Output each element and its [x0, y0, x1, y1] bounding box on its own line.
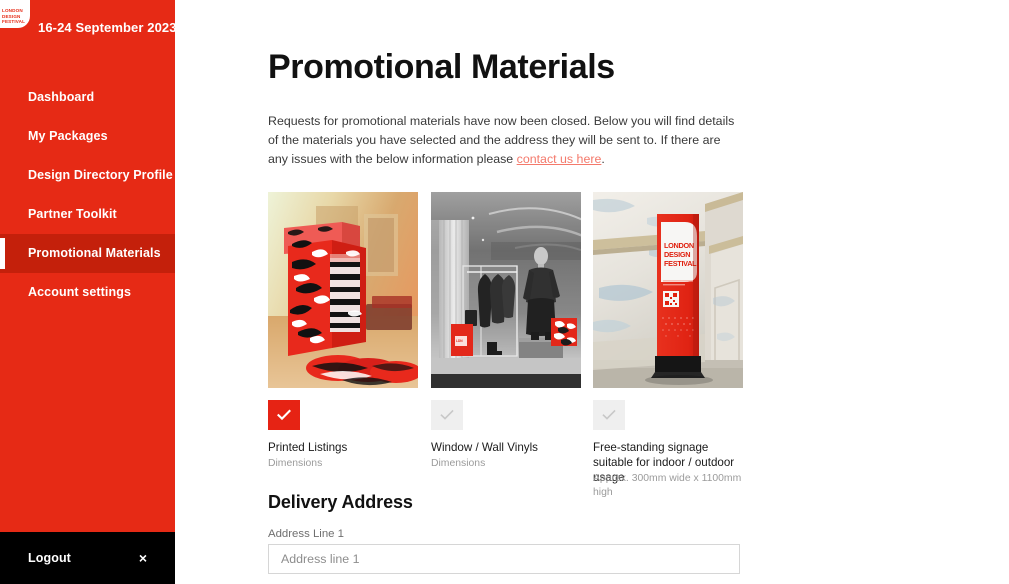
sidebar-item-account-settings[interactable]: Account settings: [0, 273, 175, 312]
london-design-festival-logo[interactable]: LONDON DESIGN FESTIVAL: [0, 0, 30, 28]
material-checkbox-free-standing-signage[interactable]: [593, 400, 625, 430]
material-card: LONDON DESIGN FESTIVAL: [593, 192, 743, 388]
delivery-address-heading: Delivery Address: [268, 492, 413, 513]
promotional-materials-page: LONDON DESIGN FESTIVAL 16-24 September 2…: [0, 0, 1009, 584]
shop-window-vinyl-photo: LDN: [431, 192, 581, 388]
check-icon: [440, 409, 454, 421]
sidebar-item-label: Partner Toolkit: [28, 207, 117, 221]
sidebar-item-label: Design Directory Profile: [28, 168, 173, 182]
svg-text:FESTIVAL: FESTIVAL: [664, 259, 697, 268]
sidebar-item-partner-toolkit[interactable]: Partner Toolkit: [0, 195, 175, 234]
contact-us-link[interactable]: contact us here: [517, 152, 602, 166]
logout-label: Logout: [28, 532, 71, 584]
sidebar: LONDON DESIGN FESTIVAL 16-24 September 2…: [0, 0, 175, 584]
address-line-1-input[interactable]: [268, 544, 740, 574]
material-card: LDN: [431, 192, 581, 388]
material-title: Window / Wall Vinyls: [431, 440, 583, 455]
sidebar-item-dashboard[interactable]: Dashboard: [0, 78, 175, 117]
intro-text-after: .: [601, 152, 604, 166]
material-subtitle: Approx. 300mm wide x 1100mm high: [593, 472, 745, 500]
free-standing-signage-totem-photo: LONDON DESIGN FESTIVAL: [593, 192, 743, 388]
logo-text: LONDON DESIGN FESTIVAL: [2, 8, 25, 24]
material-subtitle: Dimensions: [431, 457, 583, 471]
sidebar-item-label: Promotional Materials: [28, 246, 161, 260]
sidebar-nav: Dashboard My Packages Design Directory P…: [0, 78, 175, 312]
page-title: Promotional Materials: [268, 48, 615, 87]
festival-date: 16-24 September 2023: [38, 20, 175, 35]
sidebar-item-design-directory-profile[interactable]: Design Directory Profile: [0, 156, 175, 195]
intro-paragraph: Requests for promotional materials have …: [268, 112, 740, 169]
check-icon: [277, 409, 291, 421]
sidebar-item-label: My Packages: [28, 129, 108, 143]
sidebar-item-my-packages[interactable]: My Packages: [0, 117, 175, 156]
material-subtitle: Dimensions: [268, 457, 420, 471]
close-icon[interactable]: ×: [139, 532, 147, 584]
svg-text:LONDON: LONDON: [664, 241, 694, 250]
sidebar-item-label: Account settings: [28, 285, 131, 299]
address-line-1-label: Address Line 1: [268, 528, 344, 540]
check-icon: [602, 409, 616, 421]
material-checkbox-window-wall-vinyls[interactable]: [431, 400, 463, 430]
material-checkbox-printed-listings[interactable]: [268, 400, 300, 430]
intro-text-before: Requests for promotional materials have …: [268, 114, 734, 166]
material-card: Printed Listings Dimensions: [268, 192, 418, 388]
printed-listings-display-stand-photo: [268, 192, 418, 388]
main-content: Promotional Materials Requests for promo…: [175, 0, 1009, 584]
logout-bar[interactable]: Logout ×: [0, 532, 175, 584]
svg-text:DESIGN: DESIGN: [664, 250, 690, 259]
sidebar-item-label: Dashboard: [28, 90, 94, 104]
sidebar-item-promotional-materials[interactable]: Promotional Materials: [0, 234, 175, 273]
material-title: Printed Listings: [268, 440, 420, 455]
